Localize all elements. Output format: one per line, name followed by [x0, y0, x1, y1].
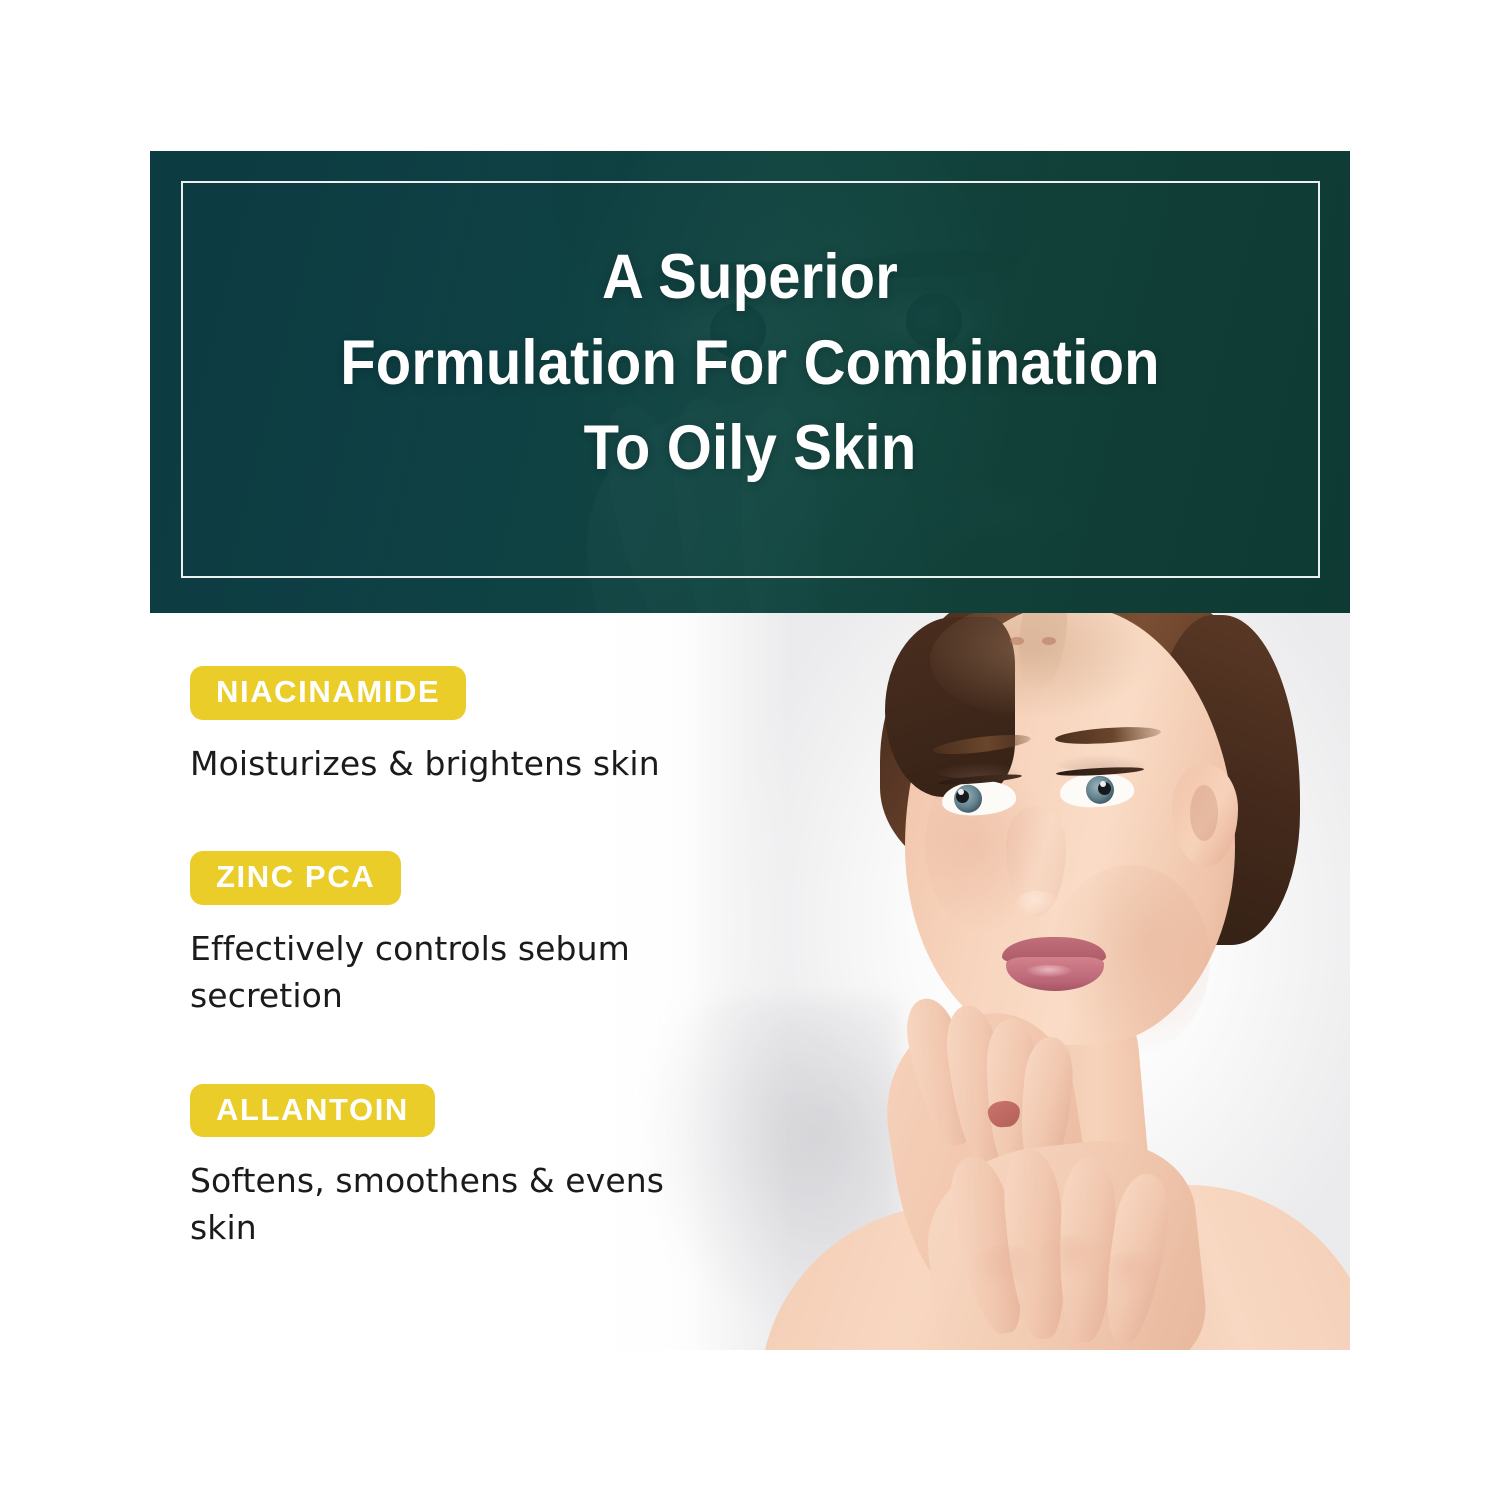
ingredient-badge-niacinamide: NIACINAMIDE — [190, 666, 466, 720]
eye-glint-left — [958, 789, 964, 795]
lip-highlight — [1026, 965, 1072, 977]
ingredient-item-niacinamide: NIACINAMIDE Moisturizes & brightens skin — [190, 666, 750, 787]
hero-banner: A Superior Formulation For Combination T… — [150, 151, 1350, 613]
ingredient-item-zinc-pca: ZINC PCA Effectively controls sebum secr… — [190, 851, 750, 1019]
ingredient-badge-zinc-pca: ZINC PCA — [190, 851, 401, 905]
woman-portrait-photo — [720, 545, 1350, 1350]
nostril-right — [1042, 637, 1056, 645]
ingredient-badge-allantoin: ALLANTOIN — [190, 1084, 435, 1138]
knuckle-highlight — [970, 1245, 1040, 1289]
knuckle-highlight — [1036, 1235, 1106, 1279]
ingredient-description-zinc-pca: Effectively controls sebum secretion — [190, 926, 710, 1020]
knuckle-highlight — [1100, 1251, 1162, 1293]
infographic-canvas: A Superior Formulation For Combination T… — [0, 0, 1500, 1500]
banner-title: A Superior Formulation For Combination T… — [198, 235, 1302, 492]
ingredient-description-niacinamide: Moisturizes & brightens skin — [190, 741, 710, 788]
hair-highlight — [930, 600, 1160, 720]
nostril-left — [1010, 637, 1024, 645]
ingredient-list: NIACINAMIDE Moisturizes & brightens skin… — [190, 666, 750, 1316]
ingredient-item-allantoin: ALLANTOIN Softens, smoothens & evens ski… — [190, 1084, 750, 1252]
eye-glint-right — [1100, 781, 1106, 787]
ingredient-description-allantoin: Softens, smoothens & evens skin — [190, 1158, 710, 1252]
nose-highlight — [1016, 891, 1058, 915]
